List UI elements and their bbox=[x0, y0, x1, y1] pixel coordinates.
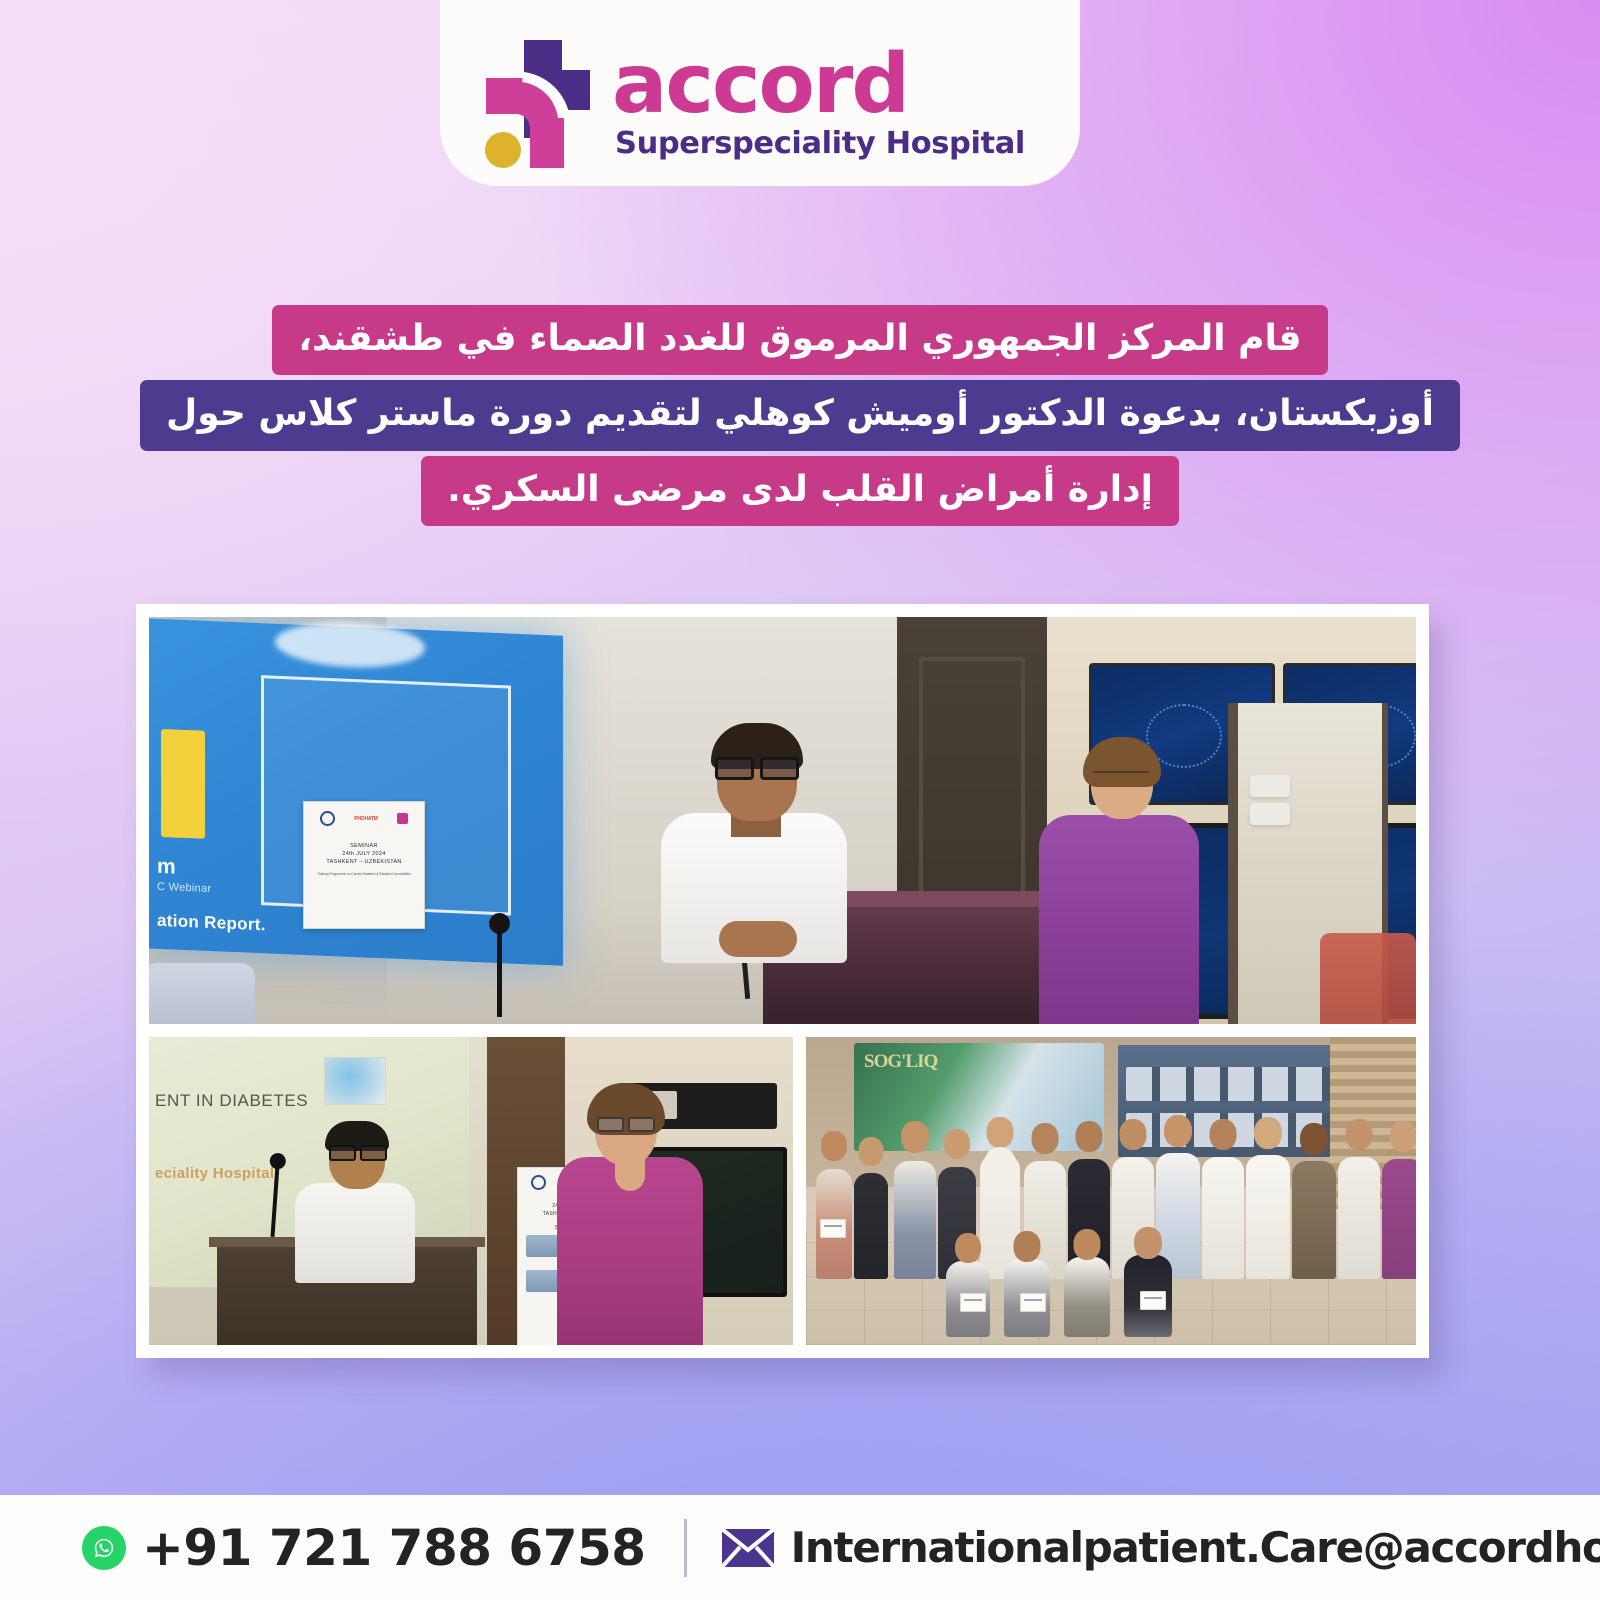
person-body bbox=[1064, 1257, 1110, 1337]
kneeling-person bbox=[1064, 1229, 1110, 1337]
group-person bbox=[1382, 1121, 1416, 1279]
group-person bbox=[816, 1131, 852, 1279]
group-front-row bbox=[946, 1217, 1206, 1337]
speaker-shirt bbox=[295, 1183, 415, 1283]
person-headscarf bbox=[984, 1147, 1016, 1183]
email-contact[interactable]: Internationalpatient.Care@accordhospital… bbox=[721, 1523, 1600, 1572]
person-head bbox=[1254, 1117, 1282, 1149]
speaker-glasses bbox=[329, 1145, 387, 1158]
staff-person bbox=[553, 1089, 703, 1345]
collage-bottom-row: ENT IN DIABETES eciality Hospital PHOHAT… bbox=[149, 1037, 1416, 1345]
contact-footer: +91 721 788 6758 Internationalpatient.Ca… bbox=[0, 1495, 1600, 1600]
plant-pot bbox=[1320, 933, 1416, 1024]
speaker-person bbox=[657, 729, 847, 959]
person-body bbox=[1202, 1157, 1244, 1279]
person-body bbox=[1246, 1155, 1290, 1279]
poster-body: Training Programme on Current Diabetes &… bbox=[304, 872, 424, 877]
phone-number: +91 721 788 6758 bbox=[142, 1519, 646, 1577]
person-body bbox=[894, 1161, 936, 1279]
person-head bbox=[1210, 1119, 1237, 1150]
slide-image bbox=[324, 1057, 386, 1105]
poster-logo-circle-icon bbox=[320, 811, 335, 826]
brand-text: accord Superspeciality Hospital bbox=[612, 47, 1025, 161]
group-person bbox=[854, 1137, 888, 1279]
certificate bbox=[820, 1219, 846, 1238]
attendee-scrubs bbox=[1039, 815, 1199, 1024]
person-head bbox=[1346, 1119, 1373, 1150]
kneeling-person bbox=[1004, 1231, 1050, 1337]
slide-text-line2: C Webinar bbox=[157, 881, 211, 895]
person-head bbox=[1134, 1227, 1162, 1259]
person-head bbox=[1390, 1121, 1417, 1152]
poster-title: SEMINAR bbox=[304, 843, 424, 849]
person-body bbox=[1292, 1161, 1336, 1279]
poster-logos: PHOHATM bbox=[304, 802, 424, 830]
person-head bbox=[821, 1131, 847, 1161]
group-person bbox=[1292, 1123, 1336, 1279]
poster-logo-circle-icon bbox=[531, 1175, 546, 1190]
staff-scrubs bbox=[557, 1157, 703, 1345]
certificate bbox=[1140, 1291, 1166, 1310]
group-person bbox=[894, 1121, 936, 1279]
person-head bbox=[1074, 1229, 1101, 1260]
brand-name: accord bbox=[612, 47, 1025, 122]
poster-logo-text: PHOHATM bbox=[354, 816, 378, 822]
person-head bbox=[944, 1129, 970, 1159]
slide-subtitle: eciality Hospital bbox=[155, 1165, 274, 1182]
photo-podium-speaker: m C Webinar ation Report. PHOHATM SEMINA… bbox=[149, 617, 1416, 1024]
photo-collage: m C Webinar ation Report. PHOHATM SEMINA… bbox=[136, 604, 1429, 1358]
whatsapp-glyph-icon bbox=[90, 1534, 118, 1562]
poster-location: TASHKENT – UZBEKISTAN bbox=[304, 859, 424, 865]
group-person bbox=[1202, 1119, 1244, 1279]
poster-logo-square-icon bbox=[397, 813, 408, 824]
kneeling-person bbox=[1124, 1227, 1172, 1337]
brand-logo: accord Superspeciality Hospital bbox=[462, 24, 1062, 184]
person-head bbox=[901, 1121, 929, 1153]
wall-fixture bbox=[1250, 803, 1290, 825]
certificate bbox=[960, 1293, 986, 1312]
slide-highlight bbox=[161, 729, 205, 839]
person-body bbox=[1382, 1159, 1416, 1279]
person-head bbox=[1164, 1115, 1192, 1147]
speaker-person bbox=[295, 1125, 415, 1253]
poster-date: 24th JULY 2024 bbox=[304, 851, 424, 857]
footer-divider bbox=[684, 1519, 687, 1577]
headline-line-3: إدارة أمراض القلب لدى مرضى السكري. bbox=[421, 456, 1179, 526]
accord-cross-logo-icon bbox=[462, 38, 590, 170]
group-person bbox=[1246, 1117, 1290, 1279]
kneeling-person bbox=[946, 1233, 990, 1337]
phone-contact[interactable]: +91 721 788 6758 bbox=[82, 1519, 646, 1577]
slide-text-line1: m bbox=[157, 855, 176, 880]
certificate bbox=[1020, 1293, 1046, 1312]
headline-block: قام المركز الجمهوري المرموق للغدد الصماء… bbox=[0, 305, 1600, 526]
seminar-poster: PHOHATM SEMINAR 24th JULY 2024 TASHKENT … bbox=[303, 801, 425, 929]
speaker-glasses bbox=[715, 757, 799, 775]
photo-group-certificates bbox=[806, 1037, 1416, 1345]
person-head bbox=[1120, 1119, 1147, 1150]
attendee-person bbox=[1039, 745, 1199, 1024]
person-body bbox=[854, 1173, 888, 1279]
brand-tagline: Superspeciality Hospital bbox=[615, 126, 1025, 161]
person-head bbox=[987, 1117, 1014, 1148]
person-head bbox=[1032, 1123, 1059, 1154]
email-address: Internationalpatient.Care@accordhospital… bbox=[791, 1523, 1600, 1572]
attendee-glasses bbox=[1093, 771, 1149, 783]
staff-glasses bbox=[597, 1117, 655, 1129]
person-head bbox=[1300, 1123, 1328, 1155]
headline-line-1: قام المركز الجمهوري المرموق للغدد الصماء… bbox=[272, 305, 1327, 375]
slide-title: ENT IN DIABETES bbox=[155, 1091, 308, 1111]
person-head bbox=[859, 1137, 884, 1166]
person-head bbox=[955, 1233, 981, 1263]
person-head bbox=[1014, 1231, 1041, 1262]
photo-lecture-diabetes: ENT IN DIABETES eciality Hospital PHOHAT… bbox=[149, 1037, 793, 1345]
envelope-icon[interactable] bbox=[721, 1528, 775, 1568]
whatsapp-icon[interactable] bbox=[82, 1526, 126, 1570]
speaker-hands bbox=[719, 921, 797, 957]
headline-line-2: أوزبكستان، بدعوة الدكتور أوميش كوهلي لتق… bbox=[140, 380, 1460, 450]
audience-chair bbox=[149, 963, 255, 1024]
wall-fixture bbox=[1250, 775, 1290, 797]
person-head bbox=[1076, 1121, 1103, 1152]
group-person bbox=[1338, 1119, 1380, 1279]
slide-text-line3: ation Report. bbox=[157, 911, 266, 936]
microphone bbox=[497, 929, 502, 1017]
person-body bbox=[1338, 1157, 1380, 1279]
